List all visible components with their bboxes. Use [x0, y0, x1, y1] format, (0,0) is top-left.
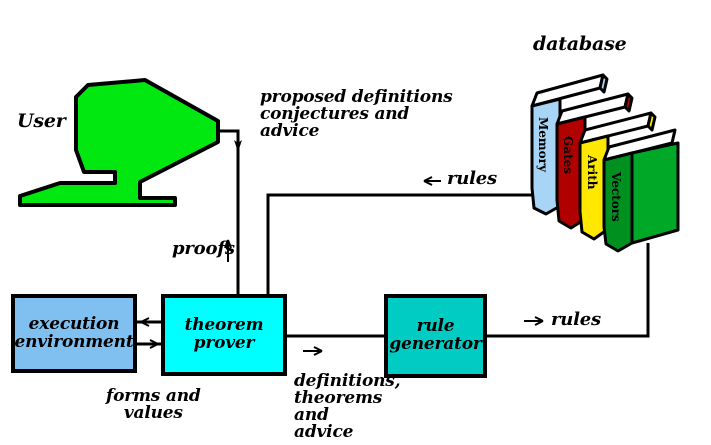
connector-user-to-prover — [216, 131, 242, 296]
diagram-canvas: User proposed definitions conjectures an… — [0, 0, 711, 445]
rules-right-label: rules — [551, 311, 601, 329]
database-label: database — [533, 35, 626, 54]
rules-left-label: rules — [447, 170, 497, 188]
user-terminal-shape — [20, 80, 218, 205]
connector-exec-prover — [135, 318, 163, 348]
left-arrow-icon — [141, 318, 160, 326]
prover-line2: prover — [194, 333, 255, 353]
user-label: User — [17, 112, 66, 131]
proofs-label: proofs — [172, 240, 235, 258]
database-books — [532, 75, 678, 251]
book-spine-memory: Memory — [536, 117, 550, 193]
rulegen-line2: generator — [389, 334, 481, 354]
right-arrow-icon — [139, 340, 158, 348]
book-spine-arith: Arith — [585, 155, 599, 211]
right-arrow-icon — [303, 347, 322, 355]
definitions-theorems-advice-label: definitions, theorems and advice — [294, 373, 400, 441]
left-arrow-icon — [424, 177, 441, 185]
box-label-execution-environment: executionenvironment — [13, 316, 135, 352]
box-label-theorem-prover: theoremprover — [163, 317, 285, 353]
forms-and-values-label: forms and values — [106, 388, 201, 422]
book-spine-vectors: Vectors — [609, 172, 623, 244]
connector-prover-to-rulegen — [285, 336, 386, 355]
right-arrow-icon — [524, 317, 543, 325]
connector-rules-to-prover — [268, 177, 537, 296]
exec-line2: environment — [15, 332, 134, 352]
book-spine-gates: Gates — [561, 136, 575, 196]
proposed-definitions-label: proposed definitions conjectures and adv… — [260, 89, 452, 140]
box-label-rule-generator: rulegenerator — [382, 318, 489, 354]
